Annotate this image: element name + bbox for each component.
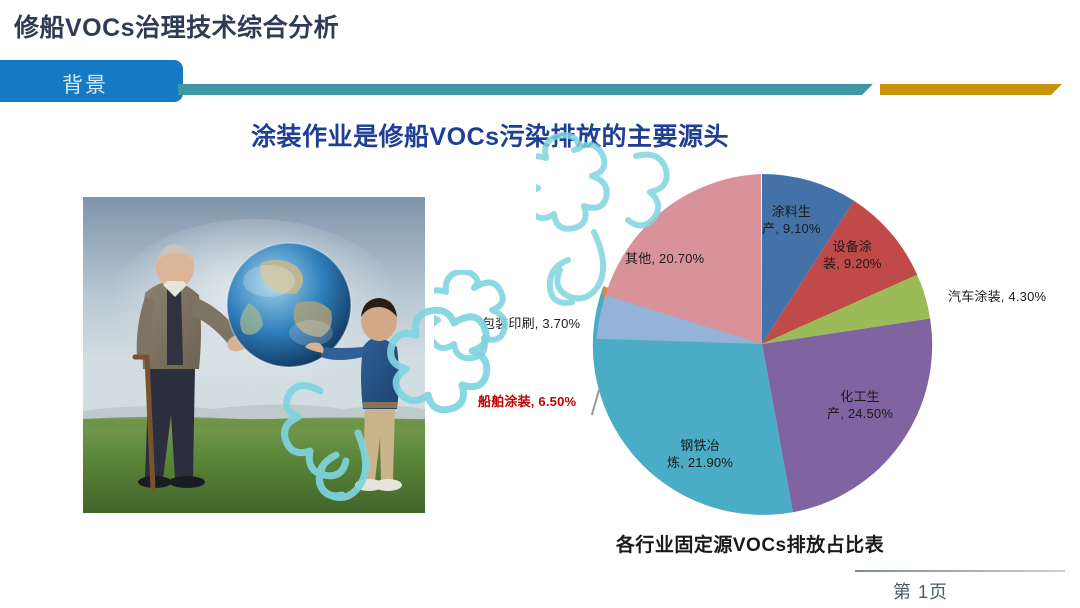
- chart-caption: 各行业固定源VOCs排放占比表: [440, 530, 1060, 557]
- illustration-photo: [83, 197, 425, 513]
- header-gold-bar: [880, 84, 1062, 95]
- pie-slice-label-7: 其他, 20.70%: [625, 250, 704, 267]
- pie-slice-label-4: 钢铁冶 炼, 21.90%: [667, 437, 733, 471]
- pie-slice-label-3: 化工生 产, 24.50%: [827, 388, 893, 422]
- pie-slice-label-0: 涂料生 产, 9.10%: [762, 203, 821, 237]
- pie-slice-label-2: 汽车涂装, 4.30%: [948, 288, 1046, 305]
- pie-chart: 涂料生 产, 9.10% 设备涂 装, 9.20% 汽车涂装, 4.30% 化工…: [440, 150, 1060, 550]
- slide-canvas: 修船VOCs治理技术综合分析 背景 涂装作业是修船VOCs污染排放的主要源头: [0, 0, 1080, 608]
- header-teal-bar: [178, 84, 873, 95]
- page-number: 第 1页: [893, 578, 948, 604]
- slide-subtitle: 涂装作业是修船VOCs污染排放的主要源头: [0, 117, 980, 153]
- pie-slice-label-1: 设备涂 装, 9.20%: [823, 238, 882, 272]
- section-tab-label: 背景: [62, 69, 108, 99]
- page-title: 修船VOCs治理技术综合分析: [14, 8, 339, 44]
- footer-divider: [855, 570, 1065, 572]
- pie-slice-label-6: 包装印刷, 3.70%: [482, 315, 580, 332]
- pie-slice-label-5: 船舶涂装, 6.50%: [478, 393, 576, 410]
